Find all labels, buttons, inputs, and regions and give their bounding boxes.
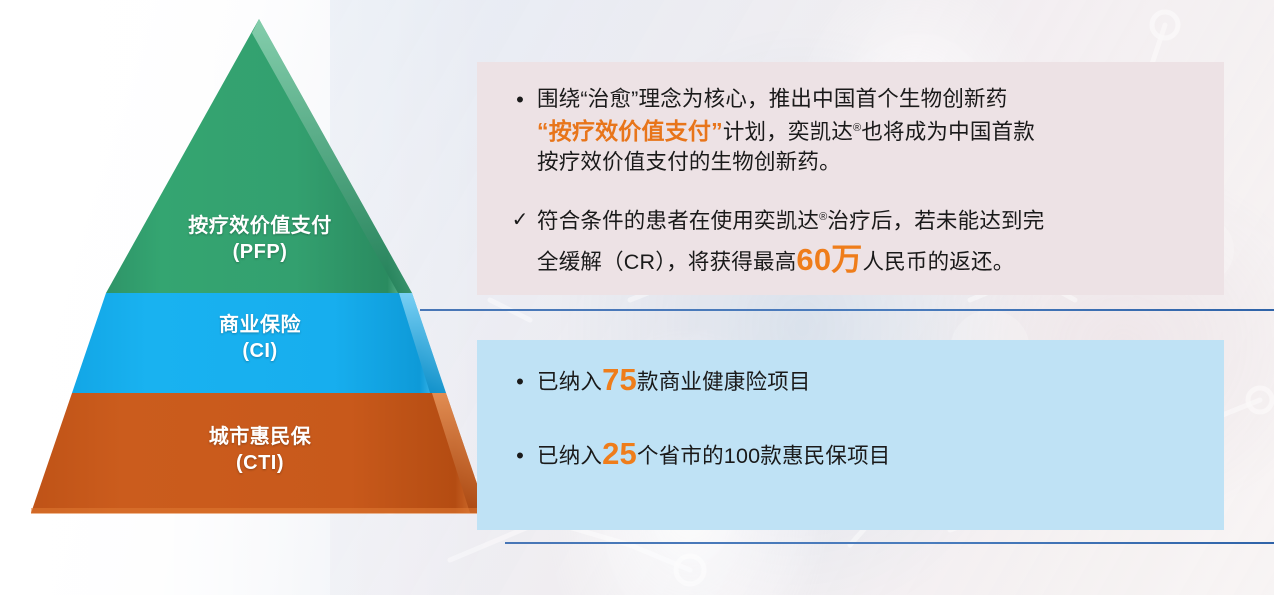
- text-run: 也将成为中国首款: [861, 120, 1035, 144]
- text-run: 个省市的100款惠民保项目: [637, 444, 890, 468]
- divider-rule-top: [420, 309, 1274, 311]
- highlight-commercial-plan-count: 75: [602, 362, 637, 397]
- bullet-line: 按疗效价值支付的生物创新药。: [537, 147, 1198, 178]
- bullet-text: 围绕“治愈”理念为核心，推出中国首个生物创新药 “按疗效价值支付”计划，奕凯达®…: [537, 84, 1198, 178]
- bullet-item: ✓ 符合条件的患者在使用奕凯达®治疗后，若未能达到完 全缓解（CR），将获得最高…: [503, 206, 1198, 278]
- pyramid-svg: [0, 0, 520, 560]
- bullet-line: “按疗效价值支付”计划，奕凯达®也将成为中国首款: [537, 115, 1198, 148]
- bullet-item: • 已纳入75款商业健康险项目: [503, 366, 1198, 398]
- bullet-text: 符合条件的患者在使用奕凯达®治疗后，若未能达到完 全缓解（CR），将获得最高60…: [537, 206, 1198, 278]
- bullet-item: • 已纳入25个省市的100款惠民保项目: [503, 440, 1198, 472]
- text-run: 按疗效价值支付的生物创新药。: [537, 150, 841, 174]
- bullet-dot-icon: •: [503, 440, 537, 471]
- text-run: 款商业健康险项目: [637, 370, 811, 394]
- bullet-dot-icon: •: [503, 366, 537, 397]
- text-run: 已纳入: [537, 370, 602, 394]
- pyramid-tier-ci[interactable]: [72, 293, 446, 393]
- highlight-pfp-program-name: “按疗效价值支付”: [537, 118, 723, 144]
- bullet-text: 已纳入75款商业健康险项目: [537, 366, 1198, 398]
- bullet-dot-icon: •: [503, 84, 537, 115]
- bullet-line: 全缓解（CR），将获得最高60万人民币的返还。: [537, 246, 1198, 278]
- slide-canvas: 按疗效价值支付 (PFP) 商业保险 (CI) 城市惠民保 (CTI) • 围绕…: [0, 0, 1274, 595]
- bullet-line: 符合条件的患者在使用奕凯达®治疗后，若未能达到完: [537, 206, 1198, 237]
- text-run: 已纳入: [537, 444, 602, 468]
- spacer: [503, 184, 1198, 206]
- highlight-province-count: 25: [602, 436, 637, 471]
- bullet-line: 围绕“治愈”理念为核心，推出中国首个生物创新药: [537, 84, 1198, 115]
- highlight-rebate-amount: 60万: [796, 242, 862, 277]
- text-run: 人民币的返还。: [863, 250, 1015, 274]
- bullet-text: 已纳入25个省市的100款惠民保项目: [537, 440, 1198, 472]
- divider-rule-bottom: [505, 542, 1274, 544]
- text-run: 符合条件的患者在使用奕凯达: [537, 209, 819, 233]
- pyramid-tier-pfp[interactable]: [106, 19, 412, 293]
- bullet-item: • 围绕“治愈”理念为核心，推出中国首个生物创新药 “按疗效价值支付”计划，奕凯…: [503, 84, 1198, 178]
- text-run: 计划，奕凯达: [723, 120, 853, 144]
- panel-coverage-stats: • 已纳入75款商业健康险项目 • 已纳入25个省市的100款惠民保项目: [477, 340, 1224, 530]
- pyramid-tier-cti[interactable]: [31, 393, 487, 519]
- text-run: 全缓解（CR），将获得最高: [537, 250, 796, 274]
- pyramid-diagram: 按疗效价值支付 (PFP) 商业保险 (CI) 城市惠民保 (CTI): [0, 0, 520, 560]
- panel-pfp-program: • 围绕“治愈”理念为核心，推出中国首个生物创新药 “按疗效价值支付”计划，奕凯…: [477, 62, 1224, 295]
- check-icon: ✓: [503, 206, 537, 234]
- text-run: 治疗后，若未能达到完: [827, 209, 1044, 233]
- text-run: 围绕“治愈”理念为核心，推出中国首个生物创新药: [537, 87, 1007, 111]
